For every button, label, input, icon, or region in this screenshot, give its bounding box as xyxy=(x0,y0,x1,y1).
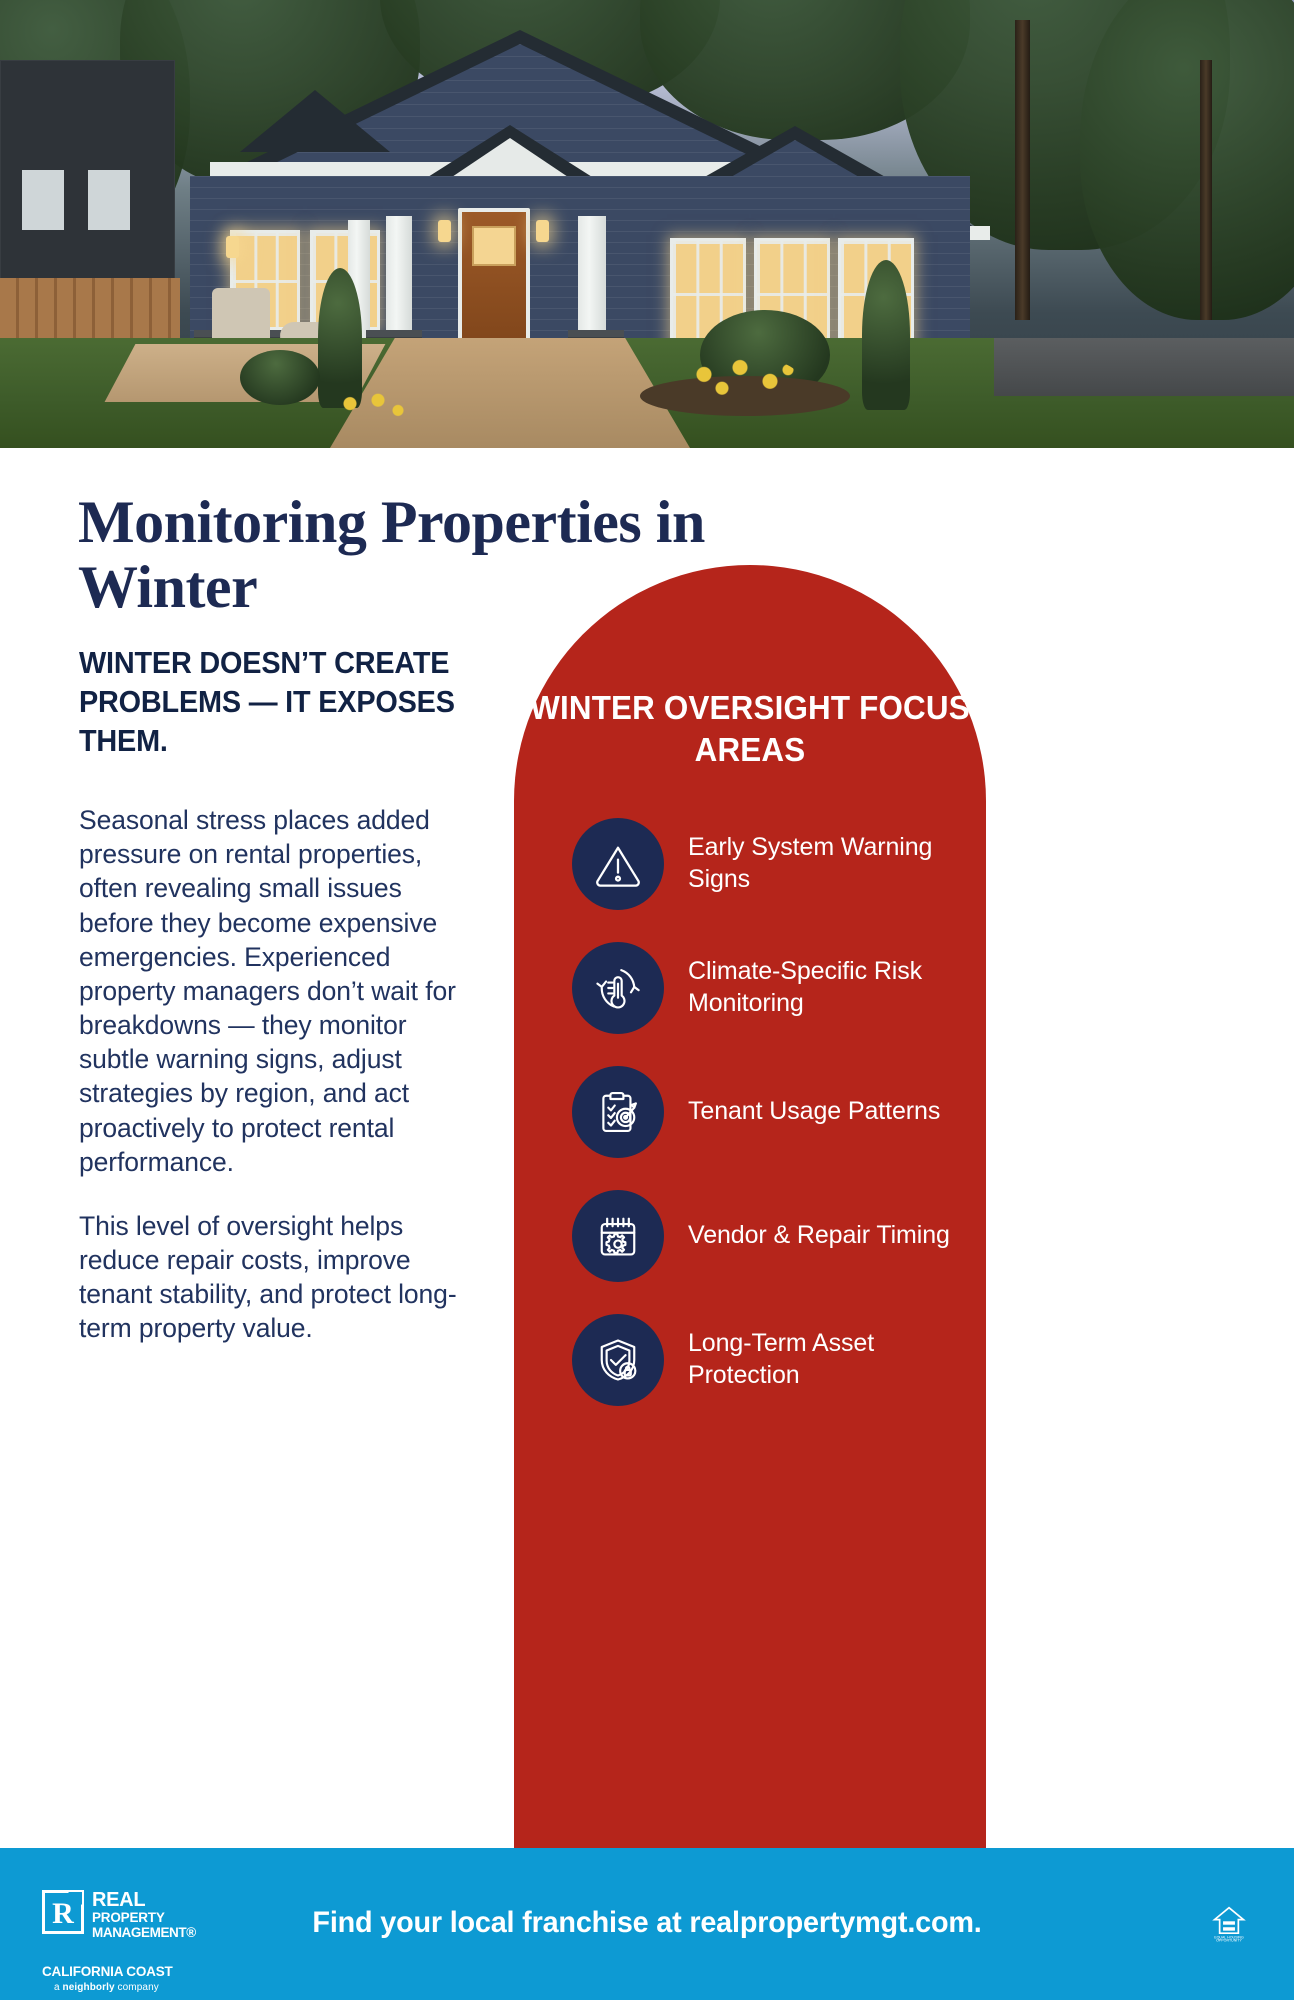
svg-text:OPPORTUNITY: OPPORTUNITY xyxy=(1216,1939,1242,1942)
footer-cta-text[interactable]: Find your local franchise at realpropert… xyxy=(26,1906,1268,1940)
list-item-label: Climate-Specific Risk Monitoring xyxy=(688,956,992,1019)
list-item-label: Vendor & Repair Timing xyxy=(688,1220,950,1252)
list-item: Vendor & Repair Timing xyxy=(572,1187,992,1284)
list-item-label: Tenant Usage Patterns xyxy=(688,1096,940,1128)
neighbor-window xyxy=(88,170,130,230)
yellow-flowers xyxy=(330,390,410,424)
list-item-label: Long-Term Asset Protection xyxy=(688,1328,992,1391)
neighbor-window xyxy=(22,170,64,230)
subheading: WINTER DOESN’T CREATE PROBLEMS — IT EXPO… xyxy=(79,643,479,760)
tagline-brand: neighborly xyxy=(63,1982,115,1993)
list-item: Long-Term Asset Protection xyxy=(572,1311,992,1408)
equal-housing-opportunity-icon: EQUAL HOUSING OPPORTUNITY xyxy=(1212,1904,1246,1942)
list-item-label: Early System Warning Signs xyxy=(688,832,992,895)
porch-light xyxy=(536,220,549,242)
tagline-suffix: company xyxy=(115,1982,159,1993)
driveway xyxy=(994,338,1294,396)
yellow-flowers xyxy=(680,356,800,402)
list-item: Climate-Specific Risk Monitoring xyxy=(572,939,992,1036)
logo-location: CALIFORNIA COAST xyxy=(42,1964,173,1979)
body-paragraph-1: Seasonal stress places added pressure on… xyxy=(79,803,469,1179)
clipboard-target-icon xyxy=(572,1066,664,1158)
tagline-prefix: a xyxy=(54,1982,63,1993)
hero-image xyxy=(0,0,1294,448)
list-item: Tenant Usage Patterns xyxy=(572,1063,992,1160)
panel-title: WINTER OVERSIGHT FOCUS AREAS xyxy=(526,687,974,771)
thermometer-climate-icon xyxy=(572,942,664,1034)
shrub xyxy=(862,260,910,410)
calendar-gear-icon xyxy=(572,1190,664,1282)
focus-areas-panel: WINTER OVERSIGHT FOCUS AREAS Early Syste… xyxy=(514,565,986,1848)
porch-light xyxy=(438,220,451,242)
porch-light xyxy=(226,236,239,258)
list-item: Early System Warning Signs xyxy=(572,815,992,912)
door-window xyxy=(472,226,516,266)
footer-bar: R REAL PROPERTY MANAGEMENT® CALIFORNIA C… xyxy=(0,1848,1294,2000)
body-copy: Seasonal stress places added pressure on… xyxy=(79,803,469,1346)
body-paragraph-2: This level of oversight helps reduce rep… xyxy=(79,1209,469,1346)
main-content: Monitoring Properties in Winter WINTER D… xyxy=(0,448,1294,1848)
shrub xyxy=(240,350,320,405)
shield-lock-icon xyxy=(572,1314,664,1406)
logo-tagline: a neighborly company xyxy=(54,1982,159,1993)
shrub xyxy=(318,268,362,408)
warning-triangle-icon xyxy=(572,818,664,910)
focus-area-list: Early System Warning Signs xyxy=(572,815,992,1435)
